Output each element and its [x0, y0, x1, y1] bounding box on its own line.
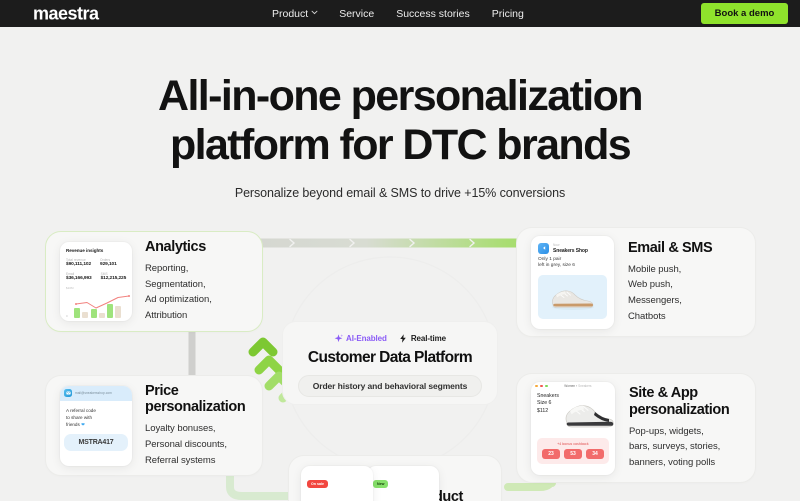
push-timestamp: Now [553, 243, 588, 247]
new-badge: New [373, 480, 388, 488]
hero-section: All-in-one personalization platform for … [0, 27, 800, 200]
stat-label: Orders [100, 258, 117, 262]
chart-trend-line [74, 291, 131, 318]
desc-line: Loyalty bonuses, [145, 421, 245, 437]
product-widget-stack: On sale New [301, 466, 373, 501]
card-price-text: Price personalization Loyalty bonuses, P… [145, 383, 245, 469]
card-site-app-title: Site & App personalization [629, 385, 729, 419]
desc-line: Pop-ups, widgets, [629, 424, 729, 440]
breadcrumb: Women › Sneakers [564, 384, 591, 388]
referral-code: MSTRA417 [64, 434, 128, 451]
hero-subtitle: Personalize beyond email & SMS to drive … [0, 186, 800, 200]
nav-item-pricing-label: Pricing [492, 8, 524, 20]
heart-icon: ❤ [81, 422, 85, 427]
nav-links: Product Service Success stories Pricing [272, 8, 524, 20]
page-root: maestra Product Service Success stories … [0, 0, 800, 501]
chart-axis-bottom: 0 [66, 314, 68, 318]
card-email-sms-desc: Mobile push, Web push, Messengers, Chatb… [628, 262, 712, 325]
window-dot-green [545, 385, 548, 388]
push-app-name: Sneakers Shop [553, 248, 588, 254]
nav-item-product-label: Product [272, 8, 308, 20]
book-demo-button[interactable]: Book a demo [701, 3, 788, 24]
revenue-chart: $10M 0 [66, 286, 126, 318]
stat-email: Email $36,166,993 [66, 272, 92, 282]
email-address: mail@sneakersshop.com [75, 391, 112, 395]
card-analytics-desc: Reporting, Segmentation, Ad optimization… [145, 261, 212, 324]
card-price-title: Price personalization [145, 383, 245, 417]
sneaker-photo [559, 393, 615, 438]
nav-item-service[interactable]: Service [339, 8, 374, 20]
stat-label: Total revenue [66, 258, 91, 262]
site-product-widget: Women › Sneakers Sneakers Size 6 $112 [531, 382, 615, 475]
email-header-bar: mail@sneakersshop.com [60, 386, 132, 401]
stat-total-revenue: Total revenue $90,111,102 [66, 258, 91, 268]
nav-item-success-stories[interactable]: Success stories [396, 8, 470, 20]
desc-line: Referral systems [145, 453, 245, 469]
bonus-cashback-panel: +4 bonus cashback 23 53 34 [537, 438, 609, 464]
card-product-personalization[interactable]: On sale New Product [288, 455, 502, 501]
email-body: A referral code to share with friends ❤ [60, 401, 132, 428]
push-header: Now Sneakers Shop [538, 243, 607, 254]
bonus-chip[interactable]: 53 [564, 449, 582, 459]
bonus-chip-row: 23 53 34 [537, 449, 609, 459]
cdp-badges: AI-Enabled Real-time [283, 334, 497, 343]
desc-line: banners, voting polls [629, 455, 729, 471]
revenue-stats-row-1: Total revenue $90,111,102 Orders 929,101 [66, 258, 126, 268]
card-email-sms-text: Email & SMS Mobile push, Web push, Messe… [628, 240, 712, 325]
desc-line: Segmentation, [145, 277, 212, 293]
nav-item-success-stories-label: Success stories [396, 8, 470, 20]
email-body-line-with-icon: friends ❤ [66, 421, 126, 428]
product-detail: Sneakers Size 6 $112 [531, 391, 615, 435]
badge-real-time-label: Real-time [411, 334, 446, 343]
badge-ai-enabled: AI-Enabled [334, 334, 387, 343]
card-analytics-title: Analytics [145, 239, 212, 256]
desc-line: Web push, [628, 277, 712, 293]
desc-line: Chatbots [628, 309, 712, 325]
hero-title-line2: platform for DTC brands [170, 121, 630, 169]
email-body-line: A referral code [66, 407, 126, 414]
nav-item-pricing[interactable]: Pricing [492, 8, 524, 20]
stat-value: $90,111,102 [66, 262, 91, 267]
card-analytics-text: Analytics Reporting, Segmentation, Ad op… [145, 239, 212, 324]
breadcrumb-separator-icon: › [576, 384, 577, 388]
bolt-icon [399, 334, 408, 343]
revenue-insights-widget: Revenue insights Total revenue $90,111,1… [60, 242, 132, 321]
product-card-on-sale: On sale [301, 466, 373, 501]
browser-chrome: Women › Sneakers [531, 382, 615, 391]
cdp-pill: Order history and behavioral segments [298, 375, 482, 397]
email-body-line: friends [66, 422, 80, 427]
hero-title-line1: All-in-one personalization [158, 72, 642, 120]
chevron-down-icon [311, 10, 317, 16]
card-site-app-title-line1: Site & App [629, 385, 698, 401]
desc-line: Reporting, [145, 261, 212, 277]
sparkle-icon [334, 334, 343, 343]
customer-data-platform-panel: AI-Enabled Real-time Customer Data Platf… [282, 321, 498, 405]
badge-ai-enabled-label: AI-Enabled [346, 334, 387, 343]
card-site-app-title-line2: personalization [629, 402, 729, 418]
window-dot-red [540, 385, 543, 388]
stat-value: $12,215,225 [101, 276, 127, 281]
stat-orders: Orders 929,101 [100, 258, 117, 268]
on-sale-badge: On sale [307, 480, 328, 488]
sneaker-icon [547, 282, 599, 312]
card-site-app-desc: Pop-ups, widgets, bars, surveys, stories… [629, 424, 729, 471]
page-title: All-in-one personalization platform for … [0, 72, 800, 169]
desc-line: Personal discounts, [145, 437, 245, 453]
stat-label: Email [66, 272, 92, 276]
chart-axis-top: $10M [66, 286, 74, 290]
stat-sms: SMS $12,215,225 [101, 272, 127, 282]
bonus-label: +4 bonus cashback [537, 442, 609, 446]
bonus-chip[interactable]: 23 [542, 449, 560, 459]
stat-label: SMS [101, 272, 127, 276]
card-price-title-line2: personalization [145, 399, 245, 415]
revenue-stats-row-2: Email $36,166,993 SMS $12,215,225 [66, 272, 126, 282]
desc-line: Mobile push, [628, 262, 712, 278]
feature-diagram: Revenue insights Total revenue $90,111,1… [0, 205, 800, 501]
push-message-line: left in grey, size 6 [538, 263, 607, 270]
card-site-app-personalization[interactable]: Women › Sneakers Sneakers Size 6 $112 [516, 373, 756, 483]
desc-line: Attribution [145, 308, 212, 324]
envelope-icon [64, 389, 72, 397]
nav-item-product[interactable]: Product [272, 8, 317, 20]
nav-item-service-label: Service [339, 8, 374, 20]
card-email-sms[interactable]: Now Sneakers Shop Only 1 pair left in gr… [516, 227, 756, 337]
card-price-title-line1: Price [145, 383, 178, 399]
badge-real-time: Real-time [399, 334, 446, 343]
sneaker-photo [307, 495, 367, 501]
card-price-personalization[interactable]: mail@sneakersshop.com A referral code to… [45, 375, 263, 476]
product-card-new: New [367, 466, 439, 501]
referral-email-widget: mail@sneakersshop.com A referral code to… [60, 386, 132, 466]
top-navbar: maestra Product Service Success stories … [0, 0, 800, 27]
revenue-widget-title: Revenue insights [66, 248, 126, 253]
window-dot-orange [535, 385, 538, 388]
desc-line: Ad optimization, [145, 292, 212, 308]
desc-line: bars, surveys, stories, [629, 439, 729, 455]
card-price-desc: Loyalty bonuses, Personal discounts, Ref… [145, 421, 245, 468]
push-notification-widget: Now Sneakers Shop Only 1 pair left in gr… [531, 236, 614, 329]
push-product-image [538, 275, 607, 319]
stat-value: $36,166,993 [66, 276, 92, 281]
breadcrumb-parent: Women [564, 384, 575, 388]
breadcrumb-child: Sneakers [578, 384, 591, 388]
card-site-app-text: Site & App personalization Pop-ups, widg… [629, 385, 729, 471]
email-body-line: to share with [66, 414, 126, 421]
brand-logo[interactable]: maestra [33, 3, 99, 24]
card-analytics[interactable]: Revenue insights Total revenue $90,111,1… [45, 231, 263, 332]
bonus-chip[interactable]: 34 [586, 449, 604, 459]
desc-line: Messengers, [628, 293, 712, 309]
push-message: Only 1 pair left in grey, size 6 [538, 257, 607, 271]
stat-value: 929,101 [100, 262, 117, 267]
cdp-title: Customer Data Platform [283, 349, 497, 367]
app-badge-icon [538, 243, 549, 254]
card-email-sms-title: Email & SMS [628, 240, 712, 257]
